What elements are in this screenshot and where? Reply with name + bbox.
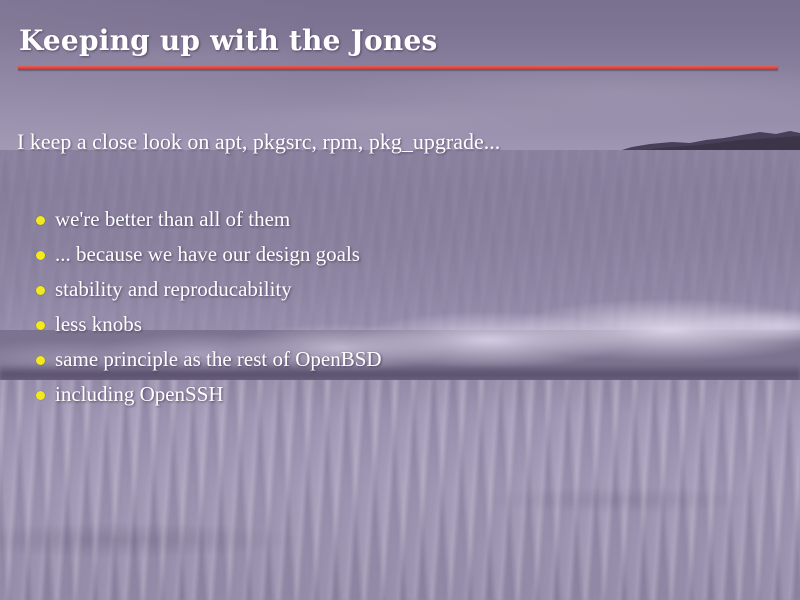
slide-title: Keeping up with the Jones: [19, 24, 437, 57]
list-item-label: including OpenSSH: [55, 382, 224, 406]
bullet-dot-icon: [36, 286, 45, 295]
bullet-dot-icon: [36, 321, 45, 330]
list-item: less knobs: [36, 310, 382, 345]
list-item-label: less knobs: [55, 312, 142, 336]
list-item: same principle as the rest of OpenBSD: [36, 345, 382, 380]
bullet-dot-icon: [36, 391, 45, 400]
list-item: stability and reproducability: [36, 275, 382, 310]
bullet-dot-icon: [36, 356, 45, 365]
bullet-dot-icon: [36, 251, 45, 260]
list-item: we're better than all of them: [36, 205, 382, 240]
list-item: ... because we have our design goals: [36, 240, 382, 275]
title-underline-rule: [18, 66, 778, 70]
list-item-label: we're better than all of them: [55, 207, 290, 231]
list-item-label: ... because we have our design goals: [55, 242, 360, 266]
list-item-label: same principle as the rest of OpenBSD: [55, 347, 382, 371]
list-item: including OpenSSH: [36, 380, 382, 415]
bullet-dot-icon: [36, 216, 45, 225]
bullet-list: we're better than all of them ... becaus…: [36, 205, 382, 415]
slide: Keeping up with the Jones I keep a close…: [0, 0, 800, 600]
slide-intro-text: I keep a close look on apt, pkgsrc, rpm,…: [17, 129, 500, 155]
list-item-label: stability and reproducability: [55, 277, 292, 301]
